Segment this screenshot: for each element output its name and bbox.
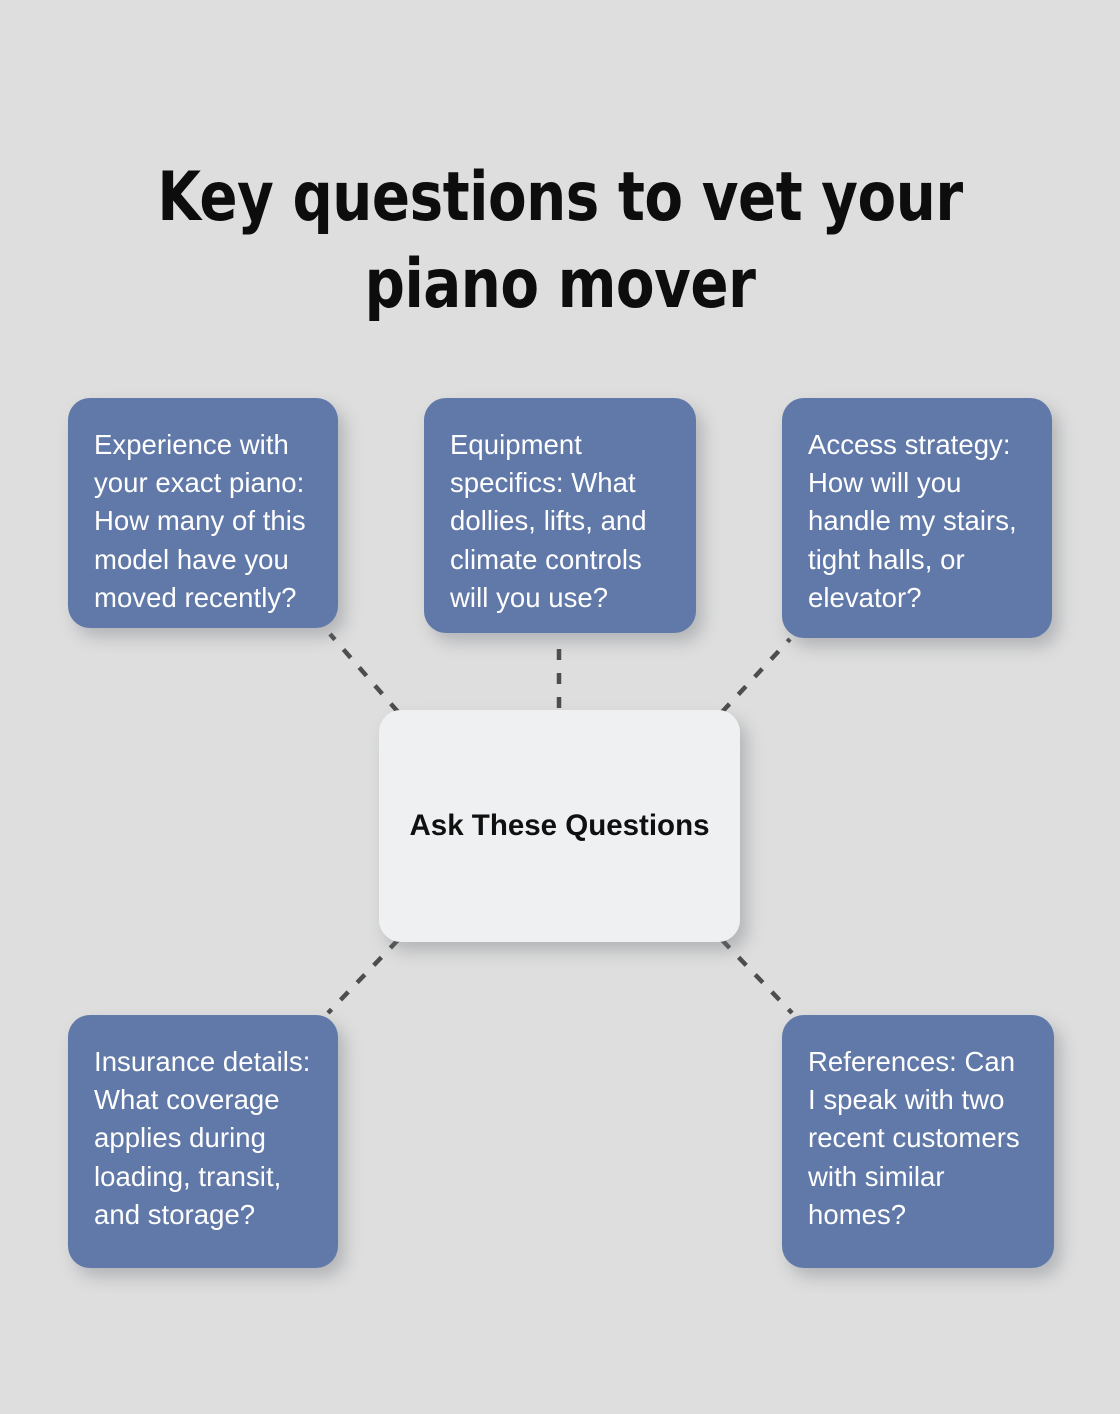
node-bottom-right[interactable]: References: Can I speak with two recent … <box>782 1015 1054 1268</box>
connector-center-to-top-right <box>722 639 790 712</box>
node-top-left[interactable]: Experience with your exact piano: How ma… <box>68 398 338 628</box>
node-top-right[interactable]: Access strategy: How will you handle my … <box>782 398 1052 638</box>
node-bottom-left-label: Insurance details: What coverage applies… <box>94 1043 312 1234</box>
node-top-center-label: Equipment specifics: What dollies, lifts… <box>450 426 670 617</box>
infographic-canvas: Key questions to vet your piano mover Ex… <box>0 0 1120 1414</box>
node-top-center[interactable]: Equipment specifics: What dollies, lifts… <box>424 398 696 633</box>
node-top-right-label: Access strategy: How will you handle my … <box>808 426 1026 617</box>
node-bottom-left[interactable]: Insurance details: What coverage applies… <box>68 1015 338 1268</box>
node-top-left-label: Experience with your exact piano: How ma… <box>94 426 312 617</box>
node-center-hub[interactable]: Ask These Questions <box>379 710 740 942</box>
connector-center-to-bottom-right <box>722 940 792 1013</box>
node-bottom-right-label: References: Can I speak with two recent … <box>808 1043 1028 1234</box>
connector-center-to-bottom-left <box>328 940 398 1013</box>
connector-center-to-top-left <box>330 634 398 712</box>
node-center-hub-label: Ask These Questions <box>409 804 709 849</box>
